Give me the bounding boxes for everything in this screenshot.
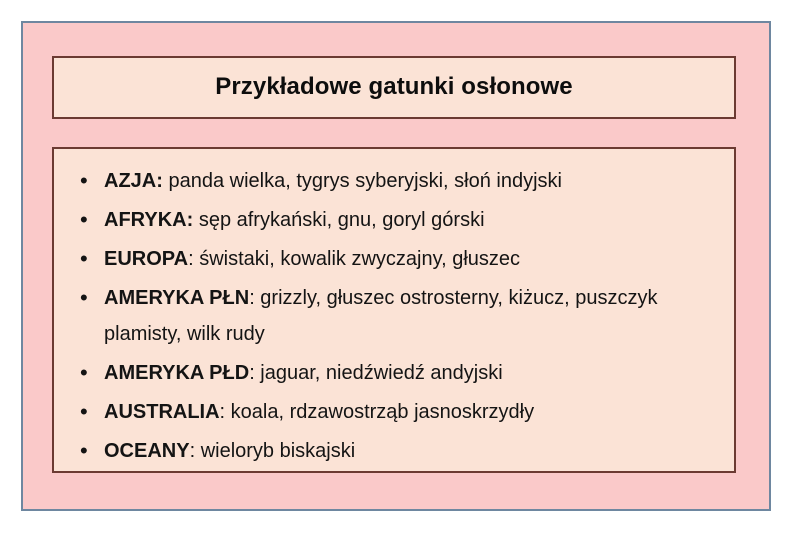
region-label: OCEANY bbox=[104, 440, 190, 462]
species-names: koala, rdzawostrząb jasnoskrzydły bbox=[225, 401, 534, 423]
title-box: Przykładowe gatunki osłonowe bbox=[52, 56, 736, 119]
region-label: AUSTRALIA bbox=[104, 401, 220, 423]
list-item: AFRYKA: sęp afrykański, gnu, goryl górsk… bbox=[78, 202, 718, 238]
region-label: AZJA bbox=[104, 170, 156, 192]
list-item: AUSTRALIA: koala, rdzawostrząb jasnoskrz… bbox=[78, 394, 718, 430]
region-label: AFRYKA bbox=[104, 209, 187, 231]
species-names: panda wielka, tygrys syberyjski, słoń in… bbox=[163, 170, 562, 192]
region-label: AMERYKA PŁD bbox=[104, 362, 249, 384]
list-item: OCEANY: wieloryb biskajski bbox=[78, 433, 718, 469]
list-item: AMERYKA PŁN: grizzly, głuszec ostrostern… bbox=[78, 280, 718, 352]
species-names: wieloryb biskajski bbox=[195, 440, 355, 462]
species-names: świstaki, kowalik zwyczajny, głuszec bbox=[194, 248, 520, 270]
species-list: AZJA: panda wielka, tygrys syberyjski, s… bbox=[78, 163, 718, 469]
species-names: jaguar, niedźwiedź andyjski bbox=[255, 362, 503, 384]
list-item: EUROPA: świstaki, kowalik zwyczajny, głu… bbox=[78, 241, 718, 277]
list-item: AMERYKA PŁD: jaguar, niedźwiedź andyjski bbox=[78, 355, 718, 391]
region-label: AMERYKA PŁN bbox=[104, 287, 249, 309]
region-separator: : bbox=[156, 170, 163, 192]
list-item: AZJA: panda wielka, tygrys syberyjski, s… bbox=[78, 163, 718, 199]
species-names: sęp afrykański, gnu, goryl górski bbox=[193, 209, 484, 231]
species-list-box: AZJA: panda wielka, tygrys syberyjski, s… bbox=[52, 147, 736, 473]
slide-frame: Przykładowe gatunki osłonowe AZJA: panda… bbox=[21, 21, 771, 511]
region-label: EUROPA bbox=[104, 248, 188, 270]
page-title: Przykładowe gatunki osłonowe bbox=[215, 74, 573, 100]
